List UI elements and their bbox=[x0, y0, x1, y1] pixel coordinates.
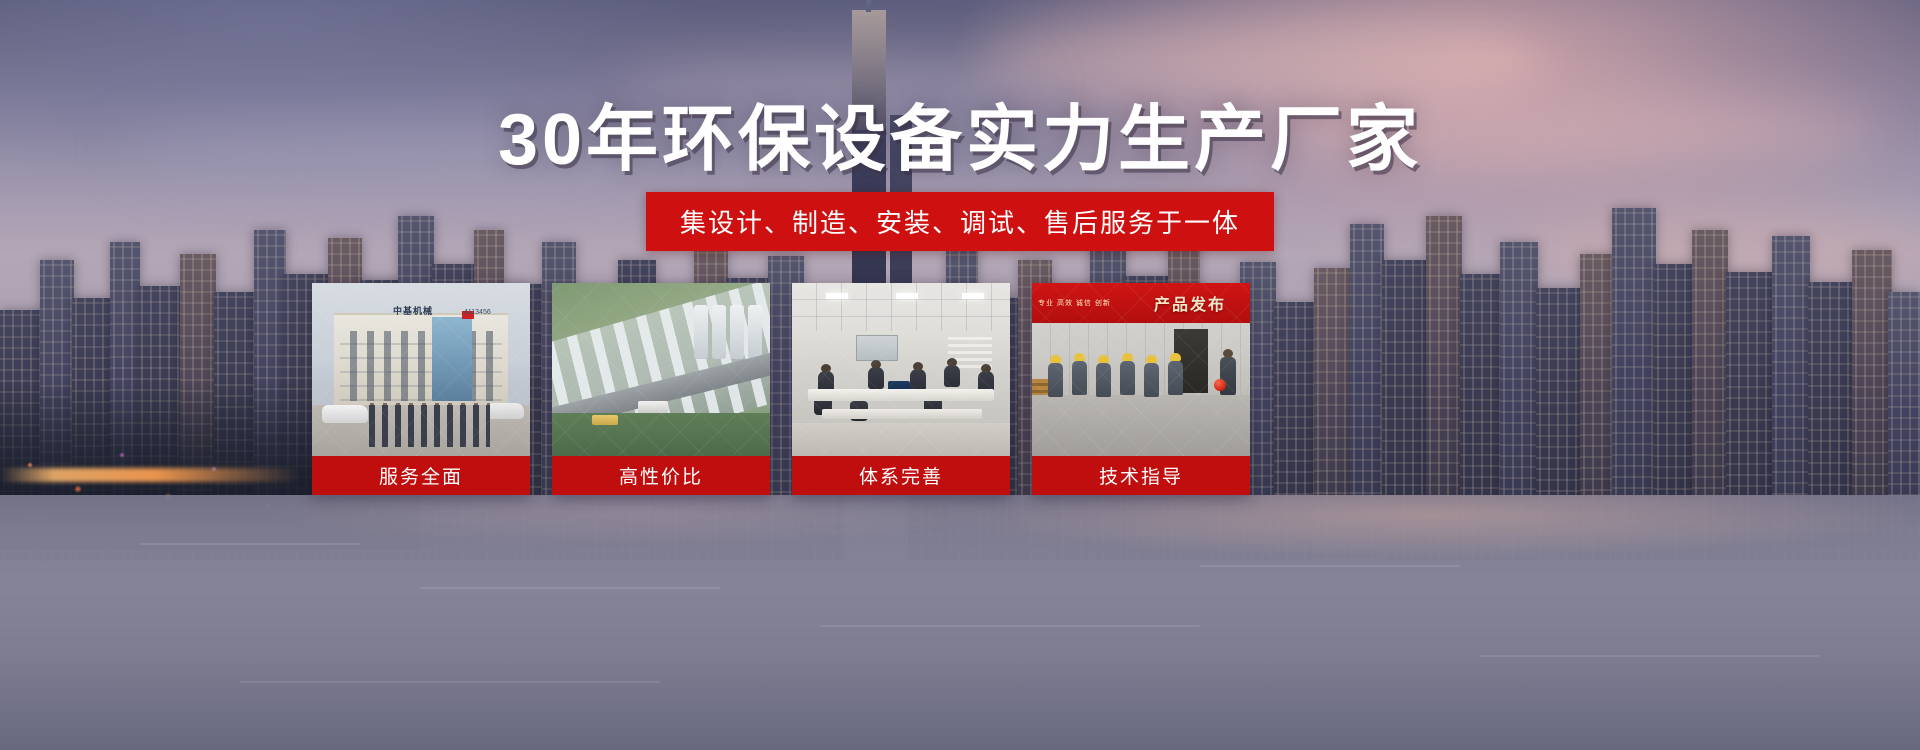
aerial-plant-photo bbox=[552, 283, 770, 456]
ceiling-light bbox=[826, 293, 848, 299]
feature-card[interactable]: 体系完善 bbox=[792, 283, 1010, 495]
feature-card-list: 中基机械 4113456 服务全面 bbox=[312, 283, 1492, 495]
workshop-floor bbox=[1032, 395, 1250, 456]
worker-with-helmet bbox=[1120, 361, 1135, 395]
river-water bbox=[0, 495, 1920, 750]
truck bbox=[638, 401, 668, 413]
office-worker bbox=[910, 369, 926, 391]
bridge-lights bbox=[0, 468, 300, 482]
worker-with-helmet bbox=[1096, 363, 1111, 397]
feature-card[interactable]: 专业 高效 诚信 创新 产品发布 技术指导 bbox=[1032, 283, 1250, 495]
subtitle-ribbon: 集设计、制造、安装、调试、售后服务于一体 bbox=[646, 192, 1274, 251]
loader-vehicle bbox=[592, 415, 618, 425]
workshop-banner-text: 产品发布 bbox=[1132, 287, 1248, 319]
tower-spire bbox=[866, 0, 871, 12]
silo bbox=[694, 305, 708, 359]
workshop-banner-subtext: 专业 高效 诚信 创新 bbox=[1038, 291, 1130, 315]
office-worker bbox=[944, 365, 960, 387]
building-signage: 中基机械 bbox=[358, 303, 468, 317]
page-title: 30年环保设备实力生产厂家 bbox=[0, 104, 1920, 176]
worker-with-helmet bbox=[1144, 363, 1159, 397]
water-streak bbox=[1480, 655, 1820, 657]
ceiling-light bbox=[896, 293, 918, 299]
glass-facade bbox=[432, 317, 472, 401]
parked-car bbox=[486, 403, 524, 419]
worker-with-helmet bbox=[1048, 363, 1063, 397]
desk bbox=[822, 409, 982, 419]
water-streak bbox=[240, 681, 660, 683]
feature-card-label: 高性价比 bbox=[552, 456, 770, 495]
silo bbox=[712, 305, 726, 359]
parked-car bbox=[322, 405, 368, 423]
ceiling-grid bbox=[792, 283, 1010, 331]
green-field bbox=[552, 413, 770, 456]
office-floor bbox=[792, 423, 1010, 456]
company-headquarters-photo: 中基机械 4113456 bbox=[312, 283, 530, 456]
silo bbox=[748, 305, 762, 359]
office-building bbox=[334, 313, 508, 407]
silo bbox=[730, 305, 744, 359]
hero-banner: 30年环保设备实力生产厂家 集设计、制造、安装、调试、售后服务于一体 中基机械 … bbox=[0, 0, 1920, 750]
desk bbox=[808, 389, 994, 401]
workshop-training-photo: 专业 高效 诚信 创新 产品发布 bbox=[1032, 283, 1250, 456]
staff-row bbox=[366, 405, 490, 447]
building-signage-number: 4113456 bbox=[464, 309, 491, 316]
feature-card[interactable]: 高性价比 bbox=[552, 283, 770, 495]
feature-card-label: 技术指导 bbox=[1032, 456, 1250, 495]
water-streak bbox=[820, 625, 1200, 627]
office-worker bbox=[868, 367, 884, 389]
feature-card-label: 体系完善 bbox=[792, 456, 1010, 495]
wall-board bbox=[856, 335, 898, 361]
worker-with-helmet bbox=[1168, 361, 1183, 395]
water-streak bbox=[1200, 565, 1460, 567]
water-reflection-glow bbox=[0, 495, 1920, 605]
ceiling-light bbox=[962, 293, 984, 299]
feature-card[interactable]: 中基机械 4113456 服务全面 bbox=[312, 283, 530, 495]
office-team-photo bbox=[792, 283, 1010, 456]
feature-card-label: 服务全面 bbox=[312, 456, 530, 495]
water-streak bbox=[140, 543, 360, 545]
water-streak bbox=[420, 587, 720, 589]
worker-with-helmet bbox=[1072, 361, 1087, 395]
red-helmet-icon bbox=[1214, 379, 1226, 391]
